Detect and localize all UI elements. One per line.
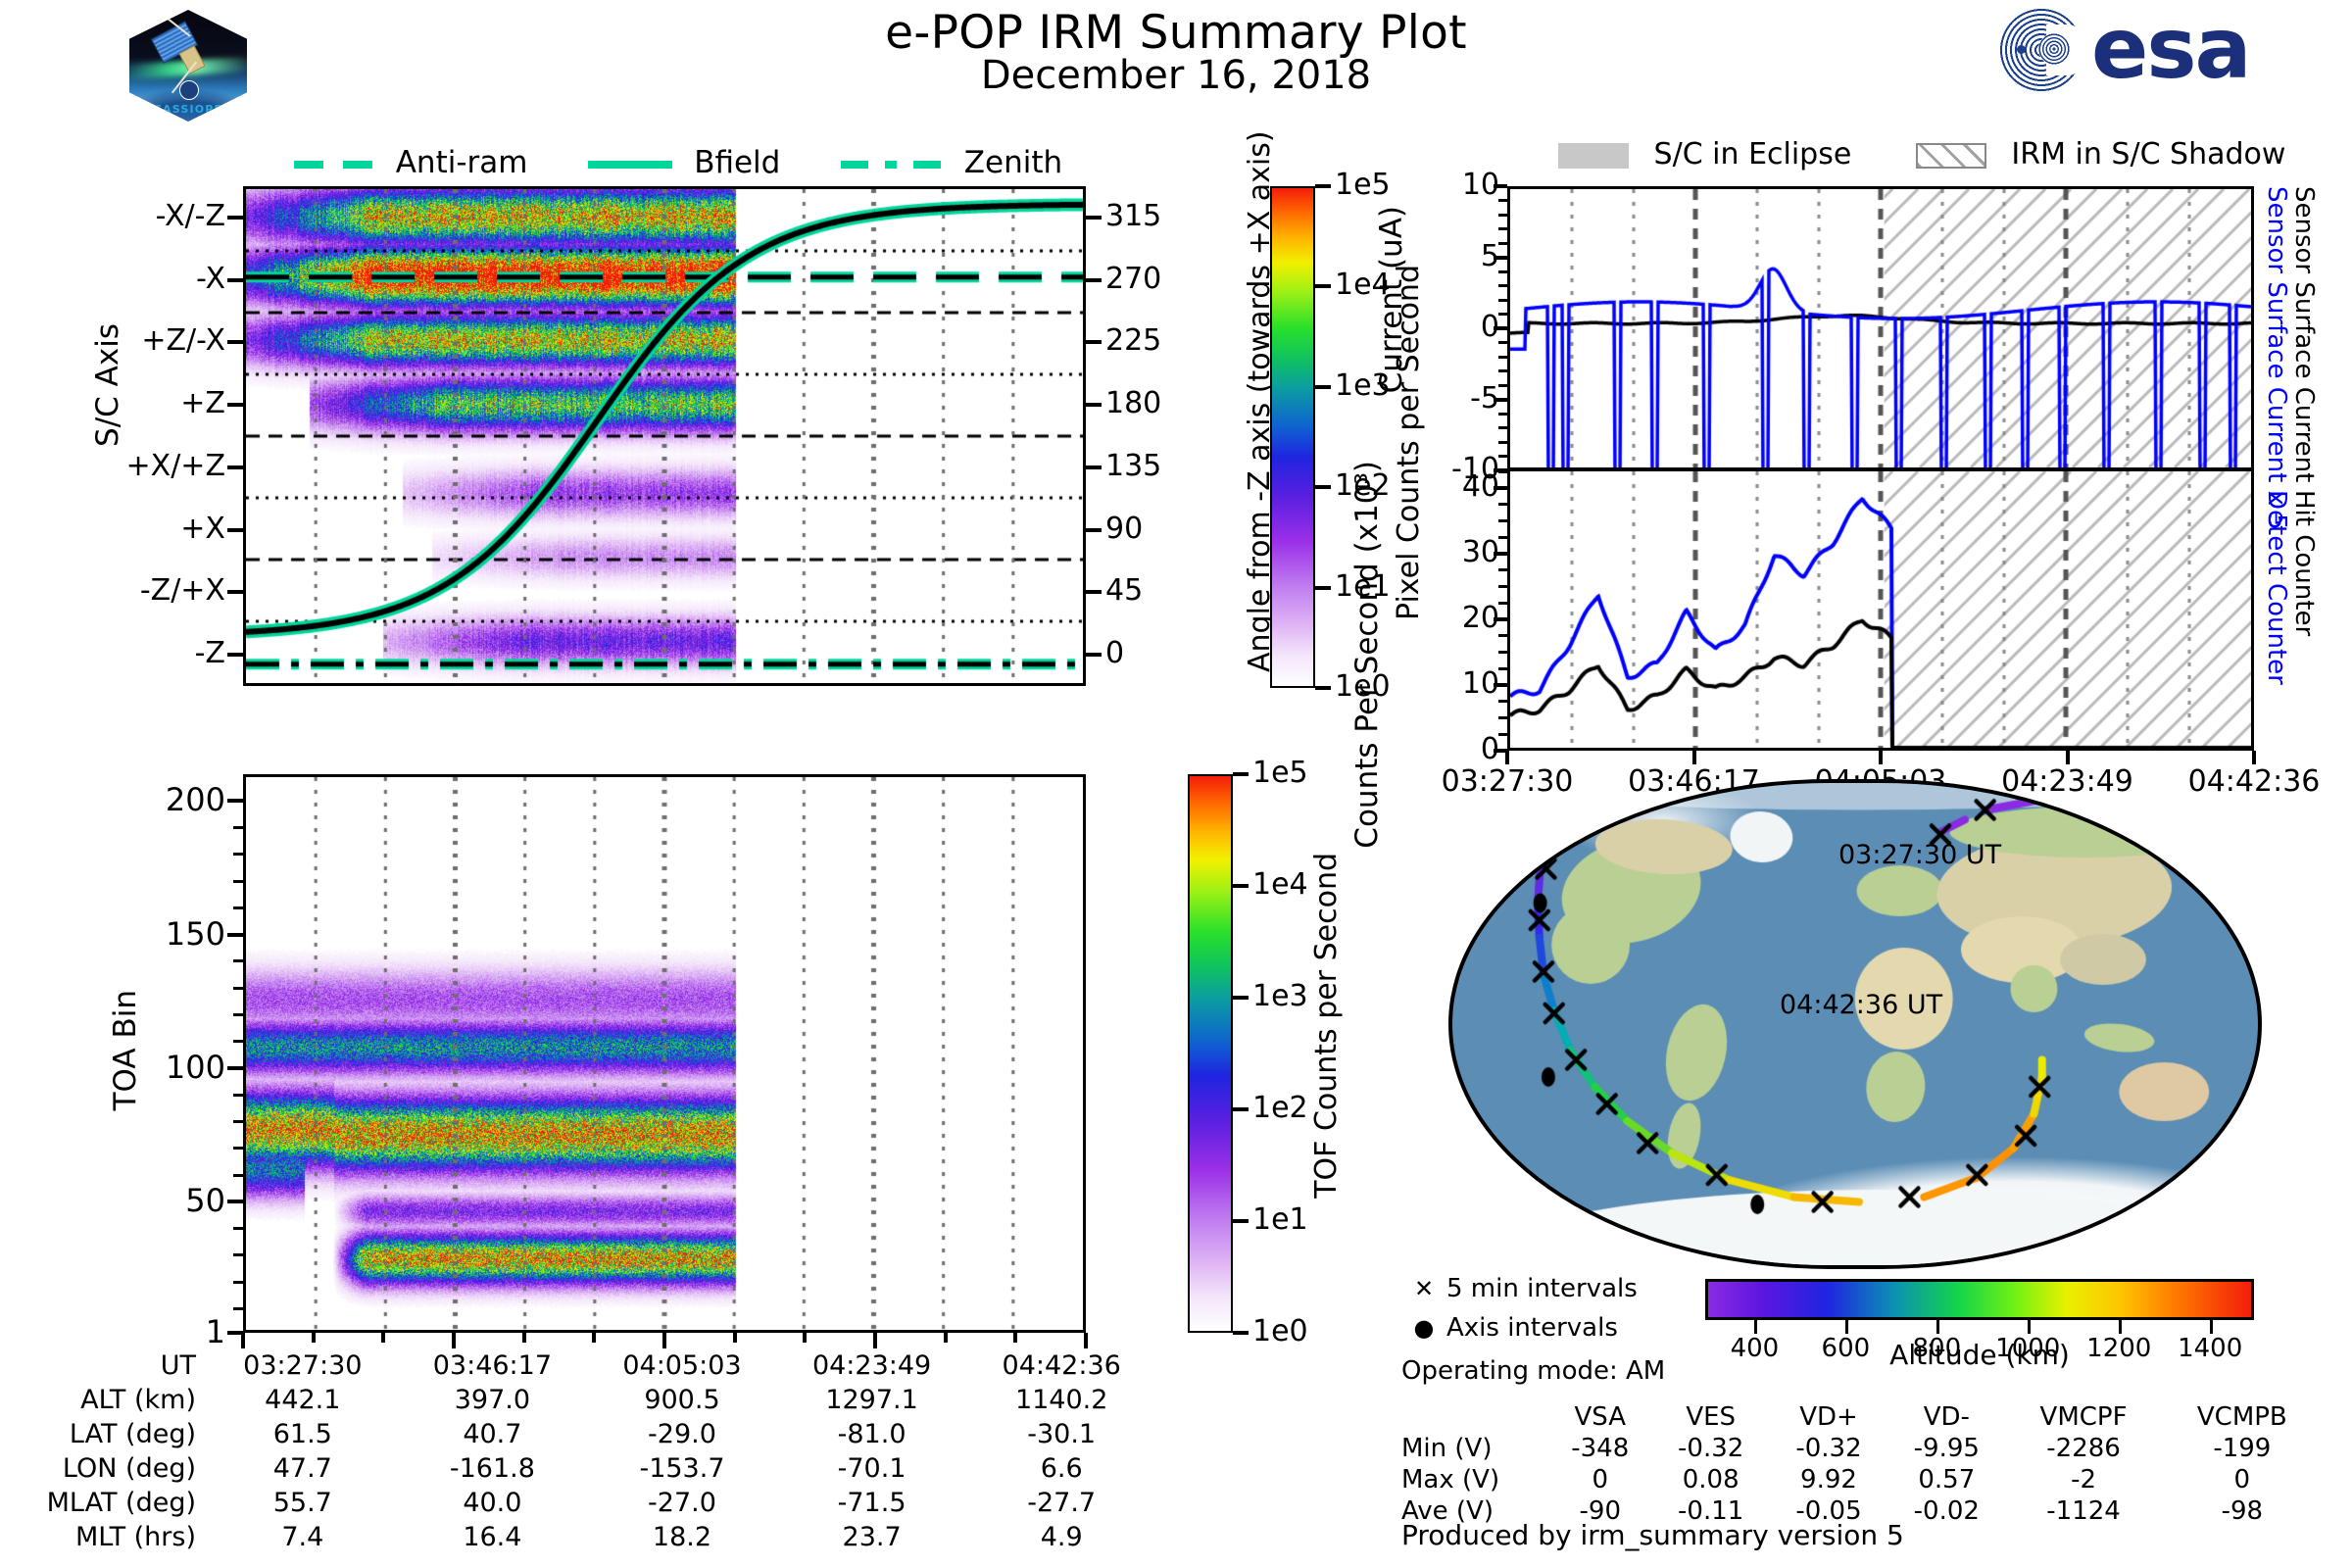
tof-counts-colorbar — [1188, 774, 1233, 1333]
tof-cb-label-3: 1e2 — [1252, 1091, 1308, 1125]
pixel-counts-colorbar — [1270, 186, 1315, 688]
ephemeris-cell: 40.0 — [398, 1486, 588, 1520]
current-minor-tick — [1498, 413, 1507, 416]
counts-minor-tick — [1498, 618, 1507, 621]
toa-xtick-4 — [522, 1333, 526, 1343]
counts-minor-tick — [1498, 536, 1507, 539]
sc-axis-angle-2: 225 — [1105, 323, 1161, 358]
counts-ytick-1: 30 — [1411, 535, 1499, 569]
toa-ytick-0: 200 — [118, 781, 225, 818]
voltage-col-header: VD+ — [1770, 1401, 1887, 1433]
tof-cb-label-5: 1e0 — [1252, 1314, 1308, 1348]
tof-cb-tick-5 — [1233, 1331, 1249, 1335]
sc-axis-ytick-2: +Z/-X — [98, 323, 225, 358]
altitude-colorbar-label: Altitude (km) — [1889, 1339, 2070, 1371]
voltage-cell: 0 — [1548, 1464, 1652, 1495]
sc-axis-spectrogram-panel[interactable] — [243, 186, 1086, 686]
voltage-header-row: VSAVESVD+VD-VMCPFVCMPB — [1401, 1401, 2323, 1433]
voltage-summary-table: VSAVESVD+VD-VMCPFVCMPBMin (V)-348-0.32-0… — [1401, 1401, 2323, 1527]
current-ytick-0: 10 — [1411, 168, 1499, 202]
ephemeris-cell: -71.5 — [777, 1486, 967, 1520]
ephemeris-row: MLT (hrs)7.416.418.223.74.9 — [0, 1520, 1156, 1554]
toa-minor-tick — [233, 1013, 243, 1016]
current-minor-tick — [1498, 369, 1507, 372]
counts-minor-tick — [1498, 553, 1507, 556]
toa-minor-tick — [233, 853, 243, 856]
ephemeris-cell: -30.1 — [966, 1417, 1156, 1451]
irm-shadow-legend-label: IRM in S/C Shadow — [2011, 137, 2285, 171]
toa-minor-tick — [233, 880, 243, 883]
toa-minor-tick — [233, 933, 243, 936]
ephemeris-cell: 4.9 — [966, 1520, 1156, 1554]
counts-ylabel: Counts Per Second (x10³) — [1350, 461, 1415, 849]
ephemeris-cell: 61.5 — [208, 1417, 398, 1451]
toa-minor-tick — [233, 1147, 243, 1150]
ephemeris-cell: -70.1 — [777, 1451, 967, 1486]
sc-axis-angle-6: 45 — [1105, 573, 1143, 608]
altitude-tick-2 — [1936, 1320, 1939, 1334]
sc-axis-angle-mark-7 — [1086, 653, 1102, 657]
counts-minor-tick — [1498, 568, 1507, 571]
ephemeris-cell: 23.7 — [777, 1520, 967, 1554]
toa-minor-tick — [233, 1120, 243, 1123]
current-panel[interactable] — [1507, 186, 2254, 470]
current-ylabel: Current (uA) — [1374, 206, 1409, 393]
sc-axis-angle-3: 180 — [1105, 386, 1161, 420]
voltage-row-header: Min (V) — [1401, 1433, 1548, 1464]
ephemeris-cell: 40.7 — [398, 1417, 588, 1451]
counts-ytick-4: 0 — [1411, 732, 1499, 766]
current-ytick-2: 0 — [1411, 310, 1499, 344]
current-minor-tick — [1498, 455, 1507, 458]
zenith-legend-swatch-a — [841, 161, 868, 169]
bfield-legend-swatch — [588, 161, 672, 169]
zenith-legend-label: Zenith — [964, 145, 1062, 180]
produced-by-footer: Produced by irm_summary version 5 — [1401, 1519, 1904, 1551]
cassiope-mission-logo: CASSIOPE — [125, 6, 251, 125]
ephemeris-row: LAT (deg)61.540.7-29.0-81.0-30.1 — [0, 1417, 1156, 1451]
voltage-cell: -2 — [2005, 1464, 2161, 1495]
counts-minor-tick — [1498, 602, 1507, 605]
sc-axis-angle-mark-4 — [1086, 465, 1102, 469]
toa-minor-tick — [233, 987, 243, 990]
toa-minor-tick — [233, 1253, 243, 1256]
voltage-col-header: VES — [1652, 1401, 1770, 1433]
eclipse-legend-swatch — [1558, 143, 1629, 169]
toa-minor-tick — [233, 906, 243, 909]
current-minor-tick — [1498, 214, 1507, 217]
counts-minor-tick — [1498, 716, 1507, 719]
counts-minor-tick — [1498, 585, 1507, 588]
ephemeris-cell: 16.4 — [398, 1520, 588, 1554]
current-minor-tick — [1498, 270, 1507, 273]
toa-xtick-6 — [662, 1333, 666, 1348]
current-minor-tick — [1498, 299, 1507, 302]
current-minor-tick — [1498, 185, 1507, 188]
five-min-interval-marker-icon: ✕ — [1401, 1275, 1446, 1302]
ephemeris-row: ALT (km)442.1397.0900.51297.11140.2 — [0, 1383, 1156, 1417]
ephemeris-cell: 55.7 — [208, 1486, 398, 1520]
ephemeris-cell: 04:23:49 — [777, 1348, 967, 1383]
ephemeris-cell: 1140.2 — [966, 1383, 1156, 1417]
altitude-tick-label-5: 1400 — [2178, 1334, 2242, 1363]
voltage-cell: 0.57 — [1887, 1464, 2005, 1495]
toa-minor-tick — [233, 1040, 243, 1043]
zenith-legend-swatch-c — [913, 161, 941, 169]
counts-minor-tick — [1498, 634, 1507, 637]
tof-cb-label-1: 1e4 — [1252, 867, 1308, 902]
sc-axis-ytick-mark-0 — [227, 216, 243, 220]
ephemeris-cell: 04:05:03 — [587, 1348, 777, 1383]
ephemeris-row-header: MLAT (deg) — [0, 1486, 208, 1520]
toa-minor-tick — [233, 826, 243, 829]
shadow-legend: S/C in Eclipse IRM in S/C Shadow — [1558, 137, 2285, 171]
toa-xtick-3 — [452, 1333, 456, 1348]
voltage-cell: 9.92 — [1770, 1464, 1887, 1495]
ephemeris-cell: 900.5 — [587, 1383, 777, 1417]
current-minor-tick — [1498, 284, 1507, 287]
ephemeris-cell: 03:46:17 — [398, 1348, 588, 1383]
counts-minor-tick — [1498, 684, 1507, 687]
sc-axis-angle-5: 90 — [1105, 512, 1143, 546]
voltage-cell: -0.32 — [1652, 1433, 1770, 1464]
voltage-cell: -0.02 — [1887, 1495, 2005, 1527]
zenith-legend-swatch-b — [885, 161, 897, 169]
counts-minor-tick — [1498, 733, 1507, 736]
toa-xtick-0 — [241, 1333, 245, 1348]
ephemeris-cell: 03:27:30 — [208, 1348, 398, 1383]
sc-axis-ytick-7: -Z — [98, 636, 225, 670]
sc-axis-angle-mark-3 — [1086, 403, 1102, 407]
tof-cb-tick-4 — [1233, 1219, 1249, 1223]
voltage-row: Min (V)-348-0.32-0.32-9.95-2286-199 — [1401, 1433, 2323, 1464]
ephemeris-cell: 18.2 — [587, 1520, 777, 1554]
pixel-cb-tick-3 — [1315, 485, 1331, 489]
pixel-cb-tick-1 — [1315, 284, 1331, 288]
altitude-tick-label-4: 1200 — [2086, 1334, 2151, 1363]
altitude-tick-3 — [2028, 1320, 2031, 1334]
toa-xtick-10 — [944, 1333, 948, 1343]
current-minor-tick — [1498, 398, 1507, 401]
current-minor-tick — [1498, 313, 1507, 316]
toa-minor-tick — [233, 1281, 243, 1284]
counts-right-label-blue: Detect Counter — [2262, 490, 2291, 685]
tof-cb-label-0: 1e5 — [1252, 756, 1308, 790]
counts-ytick-3: 10 — [1411, 666, 1499, 701]
sc-axis-ytick-mark-4 — [227, 465, 243, 469]
pixel-cb-tick-2 — [1315, 385, 1331, 389]
sc-axis-ytick-0: -X/-Z — [98, 199, 225, 233]
sc-axis-ytick-mark-6 — [227, 590, 243, 594]
toa-ytick-2: 100 — [118, 1049, 225, 1086]
ephemeris-cell: 6.6 — [966, 1451, 1156, 1486]
anti-ram-legend-label: Anti-ram — [396, 145, 528, 180]
voltage-cell: -2286 — [2005, 1433, 2161, 1464]
toa-bin-spectrogram-canvas — [246, 777, 1083, 1330]
counts-minor-tick — [1498, 487, 1507, 490]
toa-minor-tick — [233, 1094, 243, 1097]
current-minor-tick — [1498, 242, 1507, 245]
toa-minor-tick — [233, 959, 243, 962]
altitude-tick-1 — [1845, 1320, 1848, 1334]
voltage-cell: -199 — [2162, 1433, 2323, 1464]
voltage-row: Max (V)00.089.920.57-20 — [1401, 1464, 2323, 1495]
esa-logo: esa — [1999, 6, 2342, 96]
counts-panel[interactable] — [1507, 468, 2254, 751]
altitude-tick-label-0: 400 — [1731, 1334, 1780, 1363]
sc-axis-angle-mark-5 — [1086, 528, 1102, 532]
eclipse-legend-label: S/C in Eclipse — [1654, 137, 1852, 171]
ephemeris-table: UT03:27:3003:46:1704:05:0304:23:4904:42:… — [0, 1348, 1156, 1554]
voltage-cell: 0 — [2162, 1464, 2323, 1495]
toa-xtick-8 — [803, 1333, 807, 1343]
counts-minor-tick — [1498, 667, 1507, 670]
esa-logo-text: esa — [2091, 4, 2250, 94]
current-minor-tick — [1498, 341, 1507, 344]
ephemeris-cell: 47.7 — [208, 1451, 398, 1486]
voltage-cell: -348 — [1548, 1433, 1652, 1464]
tof-counts-colorbar-label: TOF Counts per Second — [1309, 853, 1344, 1199]
sc-axis-ytick-mark-1 — [227, 278, 243, 282]
sc-axis-angle-7: 0 — [1105, 636, 1124, 670]
current-minor-tick — [1498, 199, 1507, 202]
toa-xtick-12 — [1084, 1333, 1088, 1348]
ephemeris-row: LON (deg)47.7-161.8-153.7-70.16.6 — [0, 1451, 1156, 1486]
sc-axis-ytick-mark-2 — [227, 340, 243, 344]
counts-xtick-mark-0 — [1505, 751, 1509, 764]
tof-cb-tick-1 — [1233, 884, 1249, 888]
ephemeris-row-header: LAT (deg) — [0, 1417, 208, 1451]
current-minor-tick — [1498, 227, 1507, 230]
irm-shadow-legend-swatch — [1916, 143, 1986, 169]
toa-ytick-1: 150 — [118, 915, 225, 953]
current-minor-tick — [1498, 327, 1507, 330]
current-canvas — [1510, 189, 2251, 467]
ephemeris-cell: -161.8 — [398, 1451, 588, 1486]
sc-axis-ytick-mark-3 — [227, 403, 243, 407]
current-minor-tick — [1498, 441, 1507, 444]
toa-minor-tick — [233, 1067, 243, 1070]
voltage-col-header: VSA — [1548, 1401, 1652, 1433]
sc-axis-angle-0: 315 — [1105, 199, 1161, 233]
altitude-colorbar — [1705, 1279, 2254, 1320]
voltage-col-header: VCMPB — [2162, 1401, 2323, 1433]
cassiope-logo-text: CASSIOPE — [129, 103, 247, 116]
sc-axis-ytick-mark-5 — [227, 528, 243, 532]
toa-minor-tick — [233, 1227, 243, 1230]
sc-axis-angle-4: 135 — [1105, 449, 1161, 483]
ephemeris-row-header: UT — [0, 1348, 208, 1383]
map-end-time-label: 04:42:36 UT — [1780, 990, 1942, 1020]
ground-track-map[interactable]: 03:27:30 UT 04:42:36 UT — [1448, 779, 2262, 1269]
toa-xtick-5 — [592, 1333, 596, 1343]
ephemeris-row-header: LON (deg) — [0, 1451, 208, 1486]
ephemeris-row: MLAT (deg)55.740.0-27.0-71.5-27.7 — [0, 1486, 1156, 1520]
tof-cb-tick-2 — [1233, 996, 1249, 1000]
sc-axis-angle-mark-0 — [1086, 216, 1102, 220]
ephemeris-cell: 442.1 — [208, 1383, 398, 1417]
counts-minor-tick — [1498, 700, 1507, 703]
ephemeris-row-header: ALT (km) — [0, 1383, 208, 1417]
voltage-row-header: Max (V) — [1401, 1464, 1548, 1495]
ephemeris-cell: 7.4 — [208, 1520, 398, 1554]
pixel-cb-tick-0 — [1315, 184, 1331, 188]
bfield-legend-label: Bfield — [694, 145, 780, 180]
counts-xtick-mark-2 — [1879, 751, 1883, 764]
counts-canvas — [1510, 471, 2251, 748]
current-minor-tick — [1498, 384, 1507, 387]
ephemeris-cell: -27.7 — [966, 1486, 1156, 1520]
tof-cb-tick-0 — [1233, 772, 1249, 776]
ephemeris-cell: 397.0 — [398, 1383, 588, 1417]
sc-axis-angle-mark-6 — [1086, 590, 1102, 594]
current-minor-tick — [1498, 426, 1507, 429]
toa-minor-tick — [233, 1200, 243, 1203]
altitude-tick-5 — [2210, 1320, 2213, 1334]
pixel-cb-label-0: 1e5 — [1335, 168, 1391, 202]
ephemeris-row: UT03:27:3003:46:1704:05:0304:23:4904:42:… — [0, 1348, 1156, 1383]
pixel-cb-tick-5 — [1315, 686, 1331, 690]
toa-xtick-1 — [312, 1333, 316, 1343]
toa-minor-tick — [233, 1174, 243, 1177]
voltage-cell: -98 — [2162, 1495, 2323, 1527]
sc-axis-angle-1: 270 — [1105, 262, 1161, 296]
tof-cb-label-2: 1e3 — [1252, 979, 1308, 1013]
sc-axis-ytick-mark-7 — [227, 653, 243, 657]
sc-axis-angle-mark-1 — [1086, 278, 1102, 282]
ephemeris-cell: 04:42:36 — [966, 1348, 1156, 1383]
voltage-col-header: VMCPF — [2005, 1401, 2161, 1433]
voltage-cell: -1124 — [2005, 1495, 2161, 1527]
toa-ytick-4: 1 — [118, 1313, 225, 1350]
counts-right-label-black: Hit Counter — [2289, 490, 2319, 636]
ephemeris-cell: -29.0 — [587, 1417, 777, 1451]
current-right-label-black: Sensor Surface Current — [2289, 186, 2319, 482]
ephemeris-cell: -153.7 — [587, 1451, 777, 1486]
current-ytick-1: 5 — [1411, 239, 1499, 273]
five-min-interval-label: 5 min intervals — [1446, 1274, 1638, 1303]
sc-axis-ytick-6: -Z/+X — [98, 573, 225, 608]
toa-xtick-2 — [381, 1333, 385, 1343]
ephemeris-cell: 1297.1 — [777, 1383, 967, 1417]
counts-ytick-0: 40 — [1411, 469, 1499, 504]
altitude-tick-4 — [2119, 1320, 2122, 1334]
pixel-cb-tick-4 — [1315, 586, 1331, 590]
toa-xtick-7 — [733, 1333, 737, 1343]
sc-axis-spectrogram-canvas — [246, 189, 1083, 683]
toa-minor-tick — [233, 1307, 243, 1310]
voltage-cell: 0.08 — [1652, 1464, 1770, 1495]
sc-axis-ytick-1: -X — [98, 262, 225, 296]
sc-axis-ytick-5: +X — [98, 512, 225, 546]
counts-xtick-mark-1 — [1692, 751, 1696, 764]
altitude-tick-0 — [1754, 1320, 1757, 1334]
tof-cb-label-4: 1e1 — [1252, 1202, 1308, 1237]
toa-ytick-3: 50 — [118, 1182, 225, 1219]
voltage-col-header: VD- — [1887, 1401, 2005, 1433]
current-ytick-3: -5 — [1411, 381, 1499, 416]
current-minor-tick — [1498, 356, 1507, 359]
ephemeris-cell: -27.0 — [587, 1486, 777, 1520]
anti-ram-legend-swatch-2 — [343, 161, 372, 169]
counts-minor-tick — [1498, 470, 1507, 473]
counts-minor-tick — [1498, 519, 1507, 522]
counts-ytick-2: 20 — [1411, 601, 1499, 635]
ephemeris-row-header: MLT (hrs) — [0, 1520, 208, 1554]
altitude-tick-label-1: 600 — [1822, 1334, 1871, 1363]
axis-interval-marker-icon: ● — [1401, 1314, 1446, 1342]
sc-axis-ytick-3: +Z — [98, 386, 225, 420]
current-minor-tick — [1498, 256, 1507, 259]
counts-minor-tick — [1498, 503, 1507, 506]
toa-minor-tick — [233, 800, 243, 803]
axis-interval-label: Axis intervals — [1446, 1313, 1618, 1343]
sc-axis-ytick-4: +X/+Z — [98, 449, 225, 483]
toa-xtick-11 — [1013, 1333, 1017, 1343]
map-start-time-label: 03:27:30 UT — [1838, 840, 2001, 870]
sc-axis-angle-mark-2 — [1086, 340, 1102, 344]
toa-bin-spectrogram-panel[interactable] — [243, 774, 1086, 1333]
ephemeris-cell: -81.0 — [777, 1417, 967, 1451]
toa-xtick-9 — [873, 1333, 877, 1348]
counts-minor-tick — [1498, 651, 1507, 654]
current-right-label-blue: Sensor Surface Current x 5 — [2262, 186, 2291, 530]
tof-cb-tick-3 — [1233, 1107, 1249, 1111]
voltage-cell: -0.32 — [1770, 1433, 1887, 1464]
sc-axis-legend: Anti-ram Bfield Zenith — [294, 145, 1062, 180]
counts-xtick-mark-4 — [2252, 751, 2256, 764]
anti-ram-legend-swatch — [294, 161, 323, 169]
voltage-corner-cell — [1401, 1401, 1548, 1433]
voltage-cell: -9.95 — [1887, 1433, 2005, 1464]
counts-xtick-mark-3 — [2066, 751, 2070, 764]
